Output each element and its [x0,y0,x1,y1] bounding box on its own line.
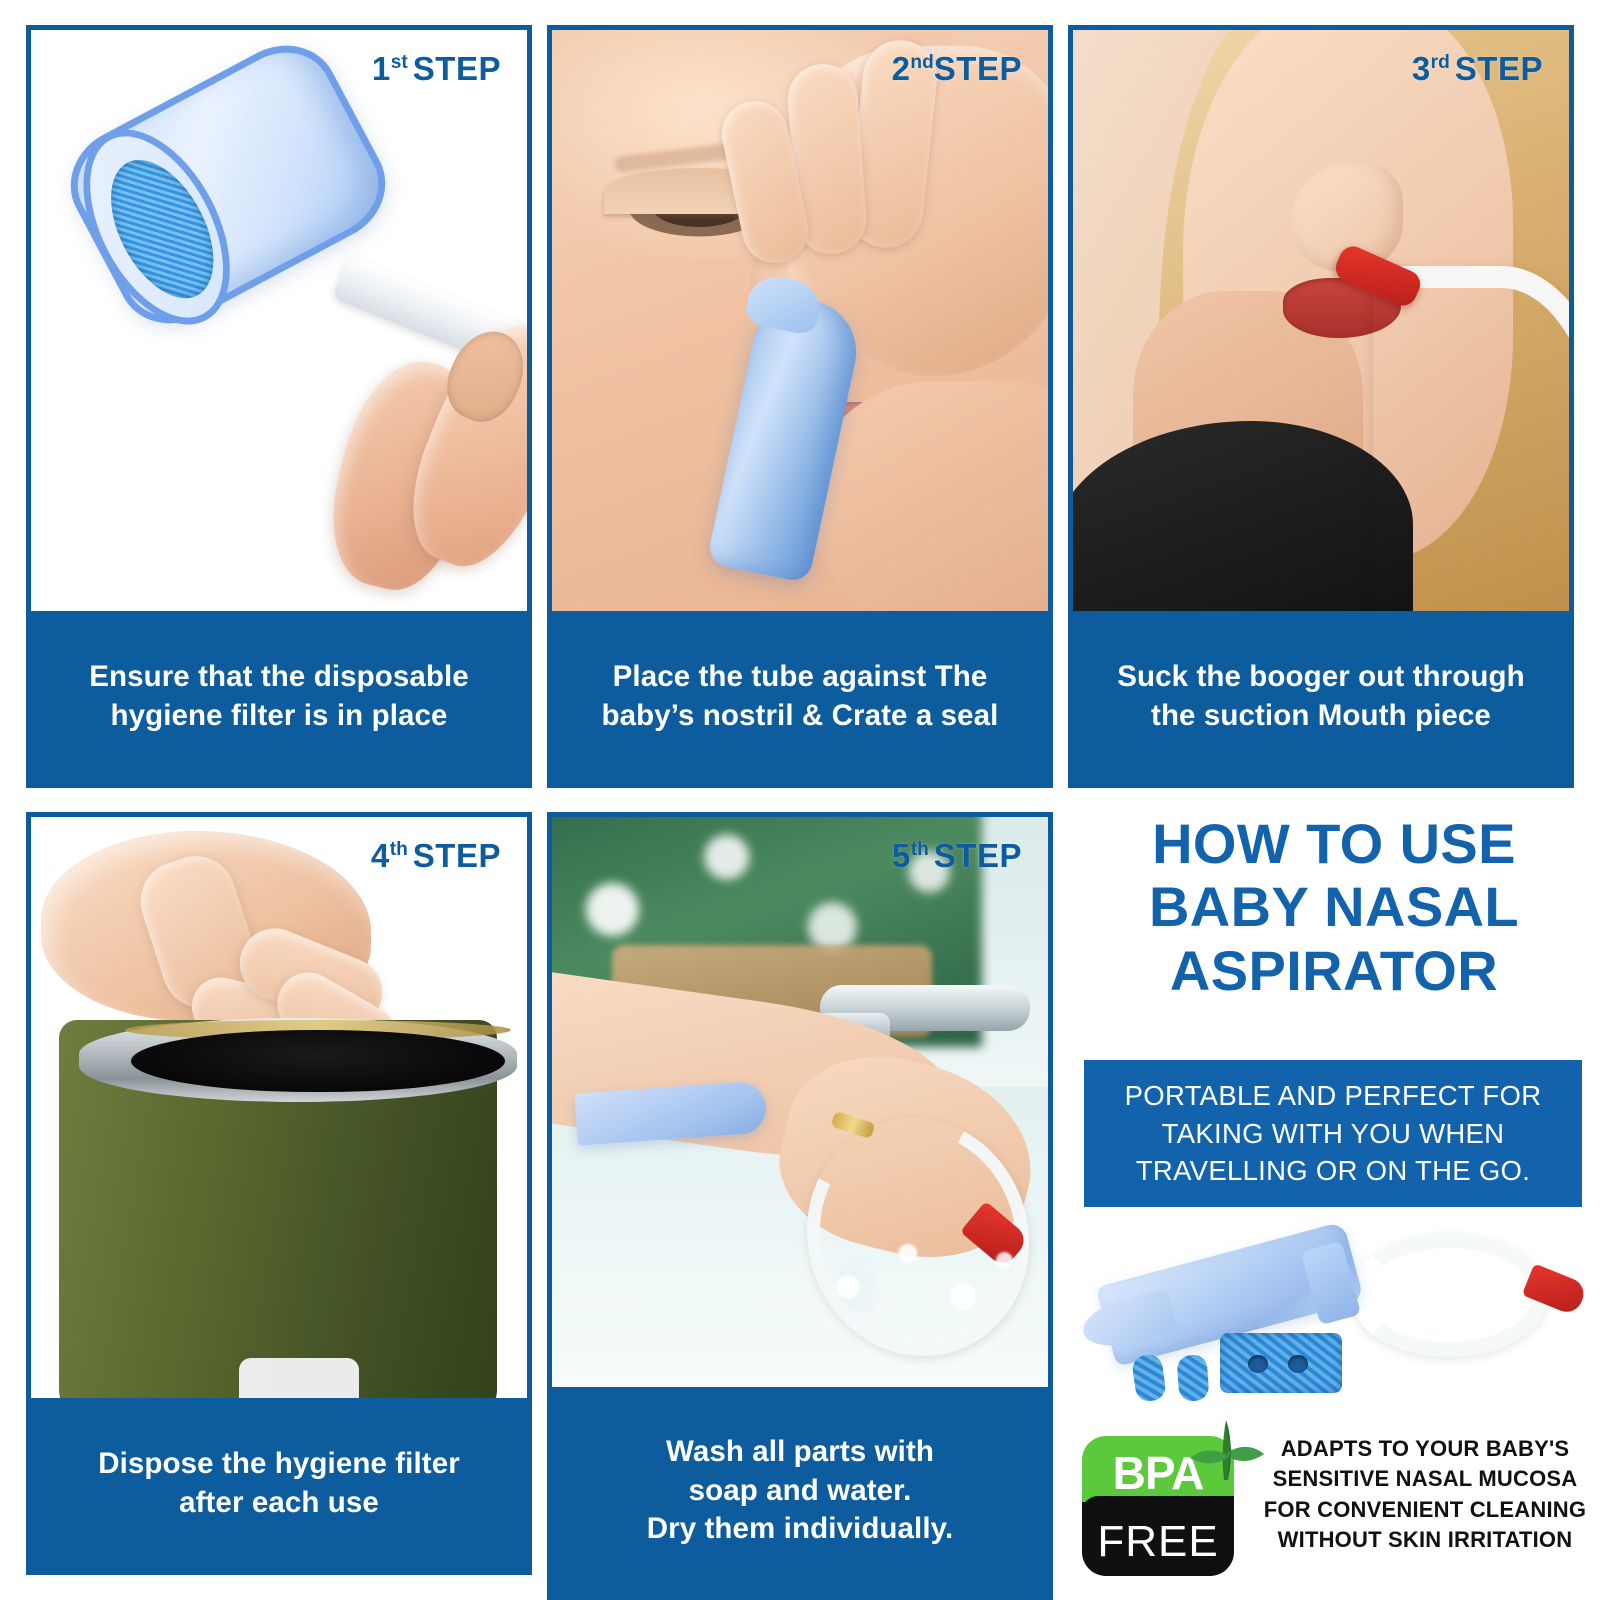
step-4-photo: 4thSTEP [31,817,527,1398]
step-3-suffix: rd [1431,52,1450,73]
filter-rim-shape [53,105,260,349]
step-2-ordinal: 2 [892,50,911,87]
step-5-ordinal: 5 [892,837,911,874]
bpa-description-line: WITHOUT SKIN IRRITATION [1258,1525,1592,1555]
step-4-photo-art [31,817,527,1398]
bpa-free-section: BPA FREE ADAPTS TO YOUR BABY'S SENSITIVE… [1082,1412,1592,1592]
trash-can-shape [59,1020,497,1398]
step-1-photo-art [31,30,527,611]
trash-can-rim-shape [79,1018,517,1102]
step-5-suffix: th [911,839,929,860]
bpa-description-line: ADAPTS TO YOUR BABY'S [1258,1434,1592,1464]
page-title-line: HOW TO USE [1086,812,1582,875]
step-3-ordinal: 3 [1412,50,1431,87]
step-5-photo-art [552,817,1048,1387]
step-1-caption-line: Ensure that the disposable [89,658,469,697]
page-title: HOW TO USE BABY NASAL ASPIRATOR [1086,812,1582,1002]
bpa-description-line: FOR CONVENIENT CLEANING [1258,1495,1592,1525]
tagline-line: PORTABLE AND PERFECT FOR [1125,1077,1542,1115]
infographic-page: 1stSTEP Ensure that the disposable hygie… [0,0,1600,1600]
step-1-caption: Ensure that the disposable hygiene filte… [31,611,527,783]
baby-arm-shape [808,381,1048,611]
bpa-description-line: SENSITIVE NASAL MUCOSA [1258,1464,1592,1494]
page-title-line: ASPIRATOR [1086,939,1582,1002]
step-panel-5: 5thSTEP Wash all parts with soap and wat… [547,812,1053,1600]
step-2-caption-line: baby’s nostril & Crate a seal [602,697,999,736]
product-photo [1078,1217,1590,1397]
bpa-description: ADAPTS TO YOUR BABY'S SENSITIVE NASAL MU… [1258,1434,1592,1555]
shoulder-shape [1073,421,1413,611]
suction-hose-shape [1373,266,1569,611]
step-panel-2: 2ndSTEP Place the tube against The baby’… [547,25,1053,788]
product-small-filter-shape [1131,1353,1167,1403]
trash-can-opening-shape [131,1030,505,1092]
step-1-suffix: st [391,52,408,73]
product-sponge-filter-shape [1220,1333,1342,1393]
step-2-photo: 2ndSTEP [552,30,1048,611]
page-title-line: BABY NASAL [1086,875,1582,938]
step-panel-4: 4thSTEP Dispose the hygiene filter after… [26,812,532,1575]
water-bubbles-shape [802,1215,1032,1335]
blue-foam-filter-shape [90,143,235,315]
step-2-caption-line: Place the tube against The [602,658,999,697]
step-panel-1: 1stSTEP Ensure that the disposable hygie… [26,25,532,788]
tagline-box: PORTABLE AND PERFECT FOR TAKING WITH YOU… [1084,1060,1582,1207]
leaf-icon [1182,1414,1266,1486]
step-3-label: 3rdSTEP [1412,52,1543,85]
step-5-word: STEP [934,837,1022,874]
step-4-caption-line: after each use [98,1484,460,1523]
step-5-photo: 5thSTEP [552,817,1048,1387]
step-1-photo: 1stSTEP [31,30,527,611]
step-4-caption-line: Dispose the hygiene filter [98,1445,460,1484]
step-4-ordinal: 4 [371,837,390,874]
step-1-word: STEP [413,50,501,87]
bpa-bottom-word: FREE [1082,1520,1234,1564]
bpa-free-badge: BPA FREE [1082,1436,1234,1576]
step-3-photo: 3rdSTEP [1073,30,1569,611]
tagline-line: TRAVELLING OR ON THE GO. [1125,1152,1542,1190]
sponge-hole-shape [1248,1355,1268,1373]
step-5-caption-line: Dry them individually. [647,1510,954,1549]
step-3-word: STEP [1455,50,1543,87]
step-3-caption: Suck the booger out through the suction … [1073,611,1569,783]
step-5-label: 5thSTEP [892,839,1022,872]
step-3-caption-line: Suck the booger out through [1117,658,1524,697]
step-3-photo-art [1073,30,1569,611]
step-panel-3: 3rdSTEP Suck the booger out through the … [1068,25,1574,788]
step-2-caption: Place the tube against The baby’s nostri… [552,611,1048,783]
step-2-word: STEP [934,50,1022,87]
sponge-hole-shape [1288,1355,1308,1373]
step-5-caption-line: Wash all parts with [647,1433,954,1472]
trash-can-label-shape [239,1358,359,1398]
step-3-caption-line: the suction Mouth piece [1117,697,1524,736]
tagline-line: TAKING WITH YOU WHEN [1125,1115,1542,1153]
step-4-word: STEP [413,837,501,874]
promo-column: HOW TO USE BABY NASAL ASPIRATOR PORTABLE… [1068,812,1600,1600]
step-1-ordinal: 1 [372,50,391,87]
step-1-label: 1stSTEP [372,52,501,85]
step-4-suffix: th [390,839,408,860]
step-4-caption: Dispose the hygiene filter after each us… [31,1398,527,1570]
product-small-filter-shape [1176,1354,1209,1402]
tagline-text: PORTABLE AND PERFECT FOR TAKING WITH YOU… [1109,1077,1558,1191]
step-1-caption-line: hygiene filter is in place [89,697,469,736]
step-2-suffix: nd [910,52,933,73]
step-5-caption: Wash all parts with soap and water. Dry … [552,1387,1048,1595]
step-5-caption-line: soap and water. [647,1472,954,1511]
step-2-label: 2ndSTEP [892,52,1022,85]
step-2-photo-art [552,30,1048,611]
product-hose-shape [1350,1233,1548,1357]
step-4-label: 4thSTEP [371,839,501,872]
